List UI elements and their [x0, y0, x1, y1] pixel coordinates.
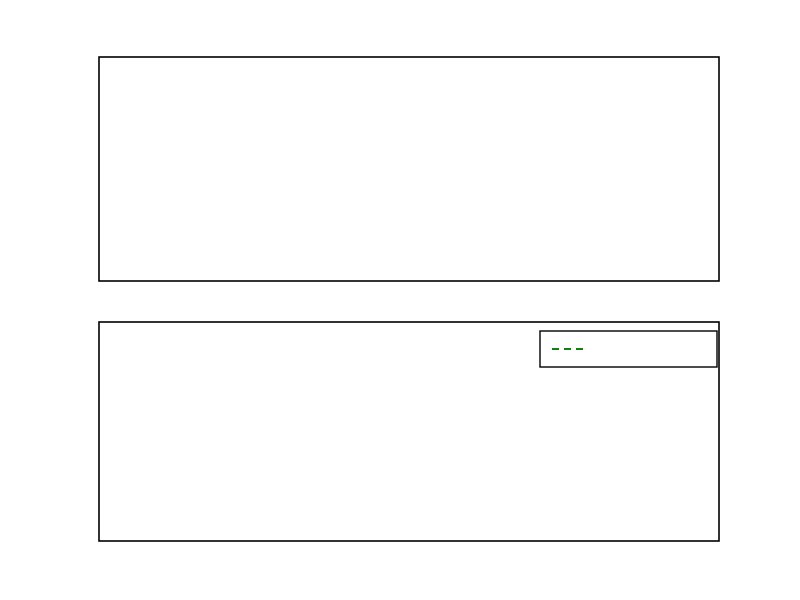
- top-plot-area: [99, 57, 719, 281]
- legend[interactable]: [540, 331, 717, 367]
- figure-canvas: [0, 0, 800, 600]
- top-panel: [99, 57, 719, 281]
- matplotlib-figure: [0, 0, 800, 600]
